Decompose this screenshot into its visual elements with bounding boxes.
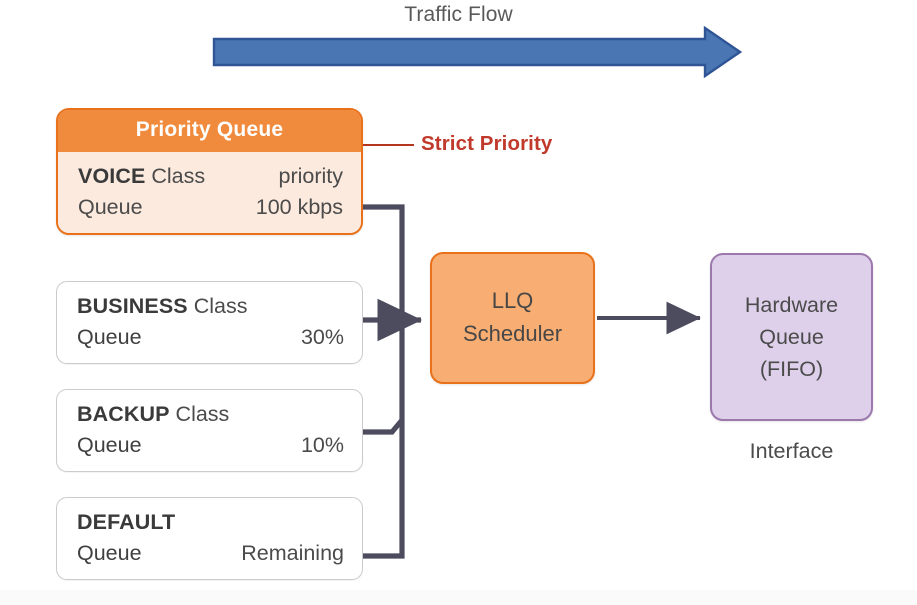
traffic-flow-arrow-icon	[212, 26, 742, 78]
queue-row-bottom: Queue Remaining	[77, 538, 344, 569]
queue-value-bottom: 10%	[301, 430, 344, 461]
queue-class-word: Class	[188, 294, 248, 318]
business-queue-box[interactable]: BUSINESS Class Queue 30%	[56, 281, 363, 364]
backup-queue-box[interactable]: BACKUP Class Queue 10%	[56, 389, 363, 472]
queue-second-line: Queue	[77, 322, 142, 353]
right-block-arrow-icon	[214, 28, 740, 76]
queue-class-name: DEFAULT	[77, 510, 175, 534]
queue-class-word: Class	[145, 164, 205, 188]
queue-second-line: Queue	[78, 192, 143, 223]
queue-value-bottom: Remaining	[241, 538, 344, 569]
queue-rows: BUSINESS Class Queue 30%	[57, 282, 362, 363]
default-queue-box[interactable]: DEFAULT Queue Remaining	[56, 497, 363, 580]
queue-second-line: Queue	[77, 538, 142, 569]
queue-class-label: BUSINESS Class	[77, 291, 247, 322]
hardware-queue-line2: Queue	[759, 321, 824, 353]
queue-row-top: BACKUP Class	[77, 399, 344, 430]
hardware-queue-line3: (FIFO)	[760, 353, 823, 385]
priority-queue-header: Priority Queue	[58, 110, 361, 152]
queue-class-label: BACKUP Class	[77, 399, 229, 430]
queue-value-bottom: 100 kbps	[256, 192, 343, 223]
queue-row-top: BUSINESS Class	[77, 291, 344, 322]
priority-queue-box[interactable]: Priority Queue VOICE Class priority Queu…	[56, 108, 363, 235]
queue-rows: BACKUP Class Queue 10%	[57, 390, 362, 471]
queue-class-word: Class	[170, 402, 230, 426]
interface-label: Interface	[710, 439, 873, 464]
strict-priority-label: Strict Priority	[421, 132, 552, 156]
bottom-band	[0, 590, 917, 605]
hardware-queue-line1: Hardware	[745, 289, 838, 321]
hardware-queue-box[interactable]: Hardware Queue (FIFO)	[710, 253, 873, 421]
queue-row-top: VOICE Class priority	[78, 161, 343, 192]
queue-rows: VOICE Class priority Queue 100 kbps	[58, 152, 361, 233]
queue-class-name: VOICE	[78, 164, 145, 188]
queue-value-bottom: 30%	[301, 322, 344, 353]
queue-class-label: DEFAULT	[77, 507, 175, 538]
diagram-canvas: Traffic Flow Priority Queue VOICE	[0, 0, 917, 605]
llq-scheduler-line1: LLQ	[492, 285, 534, 318]
queue-second-line: Queue	[77, 430, 142, 461]
queue-row-bottom: Queue 100 kbps	[78, 192, 343, 223]
queue-row-bottom: Queue 30%	[77, 322, 344, 353]
llq-scheduler-box[interactable]: LLQ Scheduler	[430, 252, 595, 384]
llq-scheduler-line2: Scheduler	[463, 318, 562, 351]
queue-rows: DEFAULT Queue Remaining	[57, 498, 362, 579]
queue-value-top: priority	[278, 161, 343, 192]
queue-class-name: BUSINESS	[77, 294, 188, 318]
connector-voice-to-trunk	[363, 207, 402, 320]
queue-class-label: VOICE Class	[78, 161, 205, 192]
connector-backup-to-trunk	[363, 420, 402, 432]
connector-default-to-trunk	[363, 320, 402, 556]
traffic-flow-title: Traffic Flow	[0, 3, 917, 27]
queue-row-top: DEFAULT	[77, 507, 344, 538]
queue-row-bottom: Queue 10%	[77, 430, 344, 461]
queue-class-name: BACKUP	[77, 402, 170, 426]
